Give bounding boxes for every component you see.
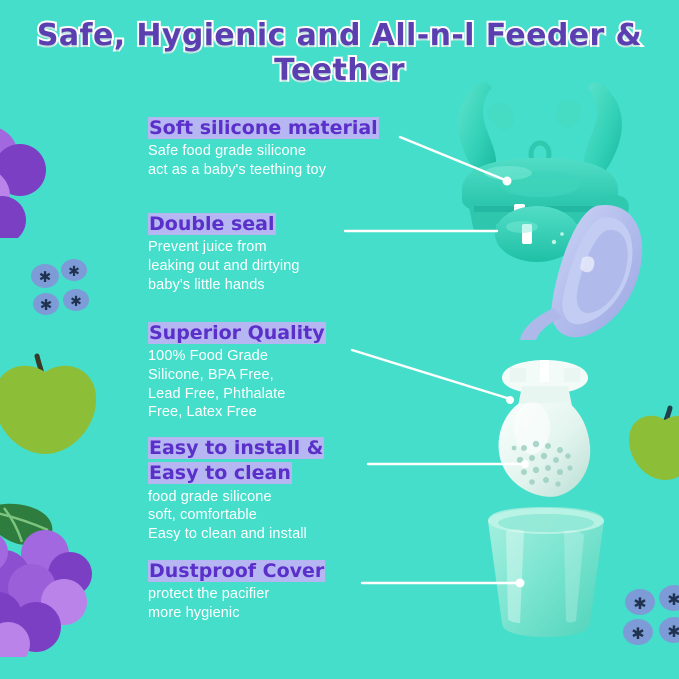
svg-text:✱: ✱ <box>631 624 644 643</box>
feature-body-line: baby's little hands <box>148 276 383 295</box>
feature-heading-wrap: Soft silicone material <box>148 117 383 139</box>
feature-body-superior-quality: 100% Food Grade Silicone, BPA Free, Lead… <box>148 347 383 421</box>
feature-body-line: Easy to clean and install <box>148 525 383 544</box>
feature-heading-easy-install: Easy to install & <box>148 437 324 459</box>
feature-body-easy-install-clean: food grade silicone soft, comfortable Ea… <box>148 488 383 544</box>
svg-text:✱: ✱ <box>39 268 52 286</box>
svg-text:✱: ✱ <box>68 264 80 280</box>
svg-text:✱: ✱ <box>40 296 53 314</box>
feature-block-soft-silicone: Soft silicone material Safe food grade s… <box>148 117 383 180</box>
svg-text:✱: ✱ <box>667 590 679 609</box>
feature-heading-easy-clean: Easy to clean <box>148 462 292 484</box>
feature-body-line: soft, comfortable <box>148 506 383 525</box>
feature-body-line: Safe food grade silicone <box>148 142 383 161</box>
blueberries-right-icon: ✱ ✱ ✱ ✱ <box>618 582 679 648</box>
svg-text:✱: ✱ <box>667 622 679 641</box>
title-bar: Safe, Hygienic and All-n-l Feeder & Teet… <box>0 18 679 88</box>
svg-text:✱: ✱ <box>633 594 646 613</box>
feature-body-line: food grade silicone <box>148 488 383 507</box>
feature-body-line: Lead Free, Phthalate <box>148 385 383 404</box>
feature-heading-soft-silicone: Soft silicone material <box>148 117 379 139</box>
feature-heading-wrap: Double seal <box>148 213 383 235</box>
feature-body-soft-silicone: Safe food grade silicone act as a baby's… <box>148 142 383 179</box>
feature-body-line: act as a baby's teething toy <box>148 161 383 180</box>
grape-cluster-bottom-left-icon <box>0 492 127 657</box>
feature-body-line: Free, Latex Free <box>148 403 383 422</box>
product-image-fruit-feeder <box>430 72 650 340</box>
feature-heading-wrap: Easy to clean <box>148 462 383 484</box>
grape-cluster-top-left-icon <box>0 108 78 238</box>
feature-heading-superior-quality: Superior Quality <box>148 322 326 344</box>
product-image-feeder-nipple <box>480 352 610 504</box>
feature-heading-wrap: Dustproof Cover <box>148 560 383 582</box>
feature-block-easy-install-clean: Easy to install & Easy to clean food gra… <box>148 437 383 543</box>
feature-heading-wrap: Superior Quality <box>148 322 383 344</box>
feature-heading-dustproof-cover: Dustproof Cover <box>148 560 325 582</box>
feature-block-superior-quality: Superior Quality 100% Food Grade Silicon… <box>148 322 383 422</box>
feature-body-line: protect the pacifier <box>148 585 383 604</box>
feature-body-line: more hygienic <box>148 604 383 623</box>
svg-text:✱: ✱ <box>70 294 82 310</box>
feature-body-line: 100% Food Grade <box>148 347 383 366</box>
feature-block-dustproof-cover: Dustproof Cover protect the pacifier mor… <box>148 560 383 623</box>
feature-body-line: Silicone, BPA Free, <box>148 366 383 385</box>
feature-body-line: Prevent juice from <box>148 238 383 257</box>
blueberries-left-icon: ✱ ✱ ✱ ✱ <box>18 258 90 320</box>
green-apple-right-icon <box>628 398 679 480</box>
product-infographic: ✱ ✱ ✱ ✱ <box>0 0 679 679</box>
feature-body-line: leaking out and dirtying <box>148 257 383 276</box>
feature-heading-wrap: Easy to install & <box>148 437 383 459</box>
feature-heading-double-seal: Double seal <box>148 213 276 235</box>
page-title: Safe, Hygienic and All-n-l Feeder & Teet… <box>0 18 679 88</box>
feature-block-double-seal: Double seal Prevent juice from leaking o… <box>148 213 383 294</box>
green-apple-left-icon <box>0 338 105 456</box>
feature-body-dustproof-cover: protect the pacifier more hygienic <box>148 585 383 622</box>
product-image-dustproof-cover <box>478 505 614 641</box>
feature-body-double-seal: Prevent juice from leaking out and dirty… <box>148 238 383 294</box>
